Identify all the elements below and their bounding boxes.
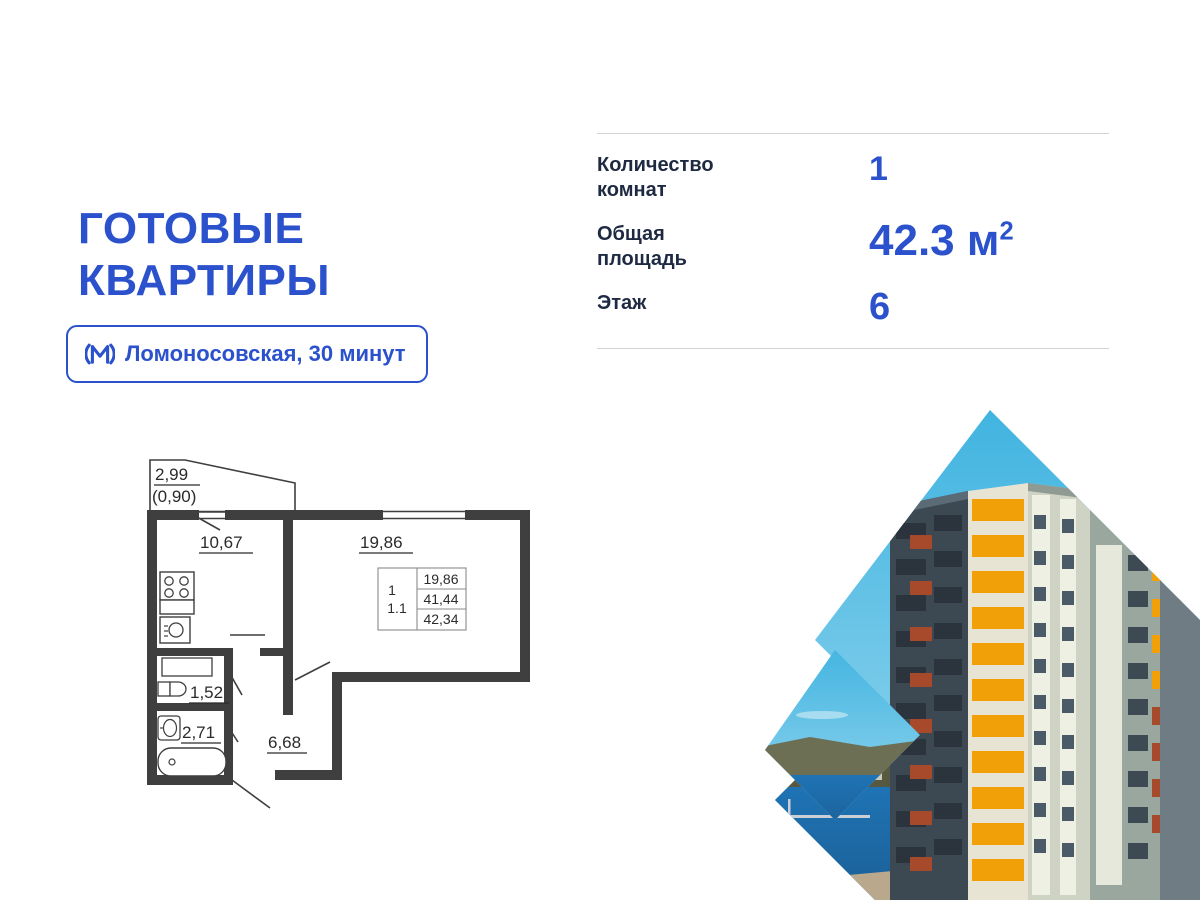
spec-label-area: Общая площадь bbox=[597, 219, 869, 272]
legend-apartment-type: 1.1 bbox=[387, 600, 407, 616]
legend-value-living: 19,86 bbox=[423, 571, 458, 587]
spec-label-floor: Этаж bbox=[597, 288, 869, 316]
spec-value-rooms: 1 bbox=[869, 150, 888, 186]
stove-icon bbox=[160, 572, 194, 614]
spec-value-area: 42.3 м2 bbox=[869, 219, 1014, 263]
spec-area-unit-exponent: 2 bbox=[999, 217, 1013, 245]
room-area-hallway: 6,68 bbox=[268, 733, 301, 752]
spec-row-rooms: Количество комнат 1 bbox=[597, 150, 1109, 203]
room-area-living: 19,86 bbox=[360, 533, 403, 552]
counter-icon bbox=[162, 658, 212, 676]
room-area-toilet: 1,52 bbox=[190, 683, 223, 702]
apartment-specs: Количество комнат 1 Общая площадь 42.3 м… bbox=[597, 133, 1109, 349]
room-area-bathroom: 2,71 bbox=[182, 723, 215, 742]
room-area-kitchen: 10,67 bbox=[200, 533, 243, 552]
spec-label-rooms: Количество комнат bbox=[597, 150, 869, 203]
legend-apartment-number: 1 bbox=[388, 582, 396, 598]
metro-m-icon bbox=[85, 339, 115, 369]
room-area-balcony: 2,99 bbox=[155, 465, 188, 484]
metro-station-badge[interactable]: Ломоносовская, 30 минут bbox=[66, 325, 428, 383]
spec-area-unit: м bbox=[967, 216, 1000, 265]
spec-row-area: Общая площадь 42.3 м2 bbox=[597, 219, 1109, 272]
page-title: Готовые квартиры bbox=[78, 203, 548, 307]
apartment-building bbox=[890, 483, 1200, 900]
room-area-balcony-secondary: (0,90) bbox=[152, 487, 196, 506]
photo-diamond-region bbox=[760, 395, 1200, 900]
legend-value-total-excl: 41,44 bbox=[423, 591, 458, 607]
legend-value-total: 42,34 bbox=[423, 611, 458, 627]
metro-station-label: Ломоносовская, 30 минут bbox=[125, 341, 406, 367]
building-photo bbox=[760, 395, 1200, 900]
bathtub-icon bbox=[158, 748, 226, 776]
orange-balcony-panels bbox=[972, 499, 1024, 881]
sink-icon bbox=[160, 617, 190, 643]
floor-plan: 2,99 (0,90) 10,67 19,86 1,52 2,71 6,68 1… bbox=[120, 450, 550, 820]
washbasin-icon bbox=[158, 716, 180, 740]
spec-row-floor: Этаж 6 bbox=[597, 288, 1109, 334]
floor-plan-legend: 1 1.1 19,86 41,44 42,34 bbox=[378, 568, 466, 630]
spec-value-floor: 6 bbox=[869, 288, 890, 326]
spec-area-number: 42.3 bbox=[869, 216, 955, 265]
toilet-icon bbox=[158, 682, 186, 696]
